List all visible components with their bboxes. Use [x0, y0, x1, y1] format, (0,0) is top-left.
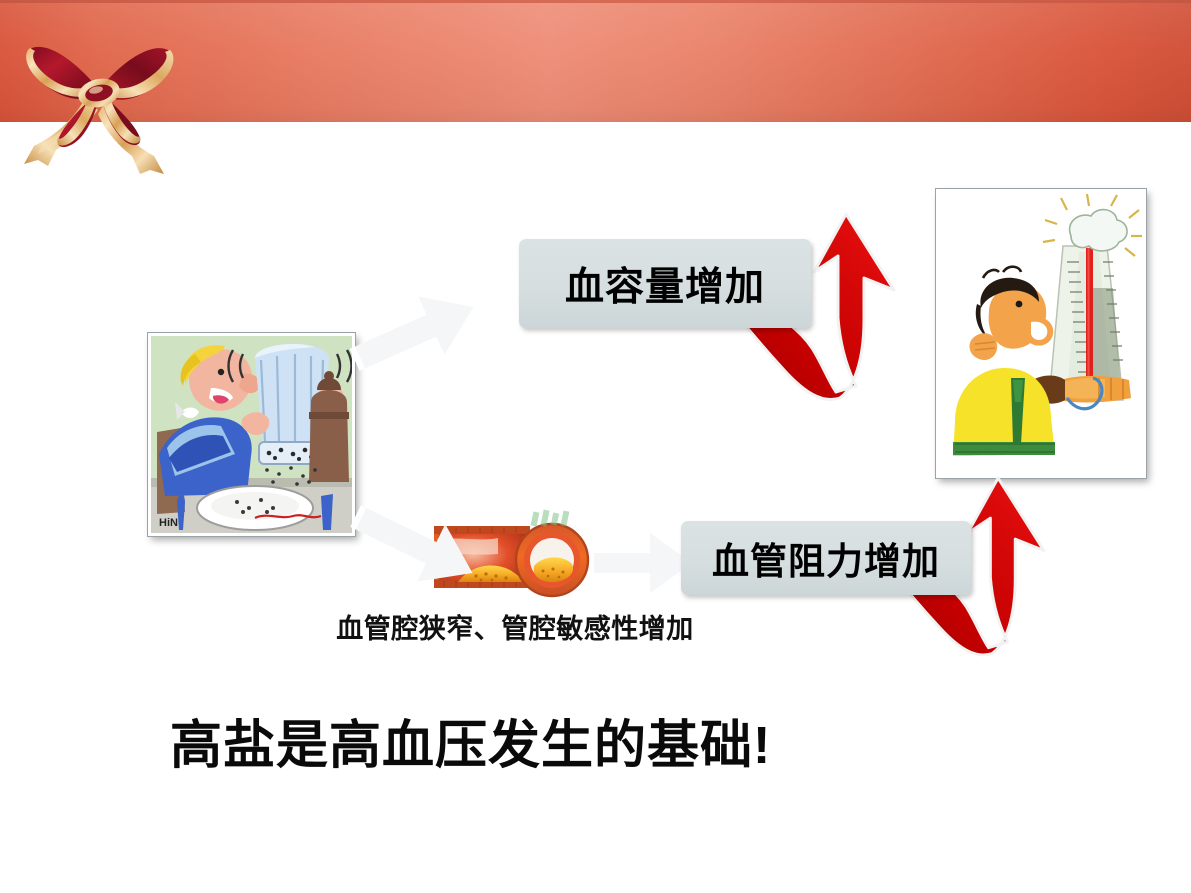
arrow-salt-to-vessel-icon — [345, 495, 485, 595]
salt-overuse-cartoon: HiN — [148, 333, 355, 536]
blood-volume-label-box: 血容量增加 — [519, 239, 811, 328]
salt-cartoon-illustration: HiN — [151, 336, 352, 533]
blood-volume-label: 血容量增加 — [565, 256, 765, 312]
ribbon-bow-icon — [8, 14, 198, 174]
vascular-resistance-label: 血管阻力增加 — [712, 531, 940, 585]
svg-text:HiN: HiN — [159, 517, 178, 529]
slide-conclusion-title: 高盐是高血压发生的基础! — [170, 703, 771, 778]
vessel-caption-text: 血管腔狭窄、管腔敏感性增加 — [310, 607, 720, 646]
high-blood-pressure-cartoon — [936, 189, 1146, 478]
arrow-salt-to-blood-volume-icon — [345, 283, 485, 383]
vascular-resistance-label-box: 血管阻力增加 — [681, 521, 971, 595]
slide-canvas: HiN — [0, 0, 1191, 893]
bp-cartoon-illustration — [939, 192, 1143, 475]
